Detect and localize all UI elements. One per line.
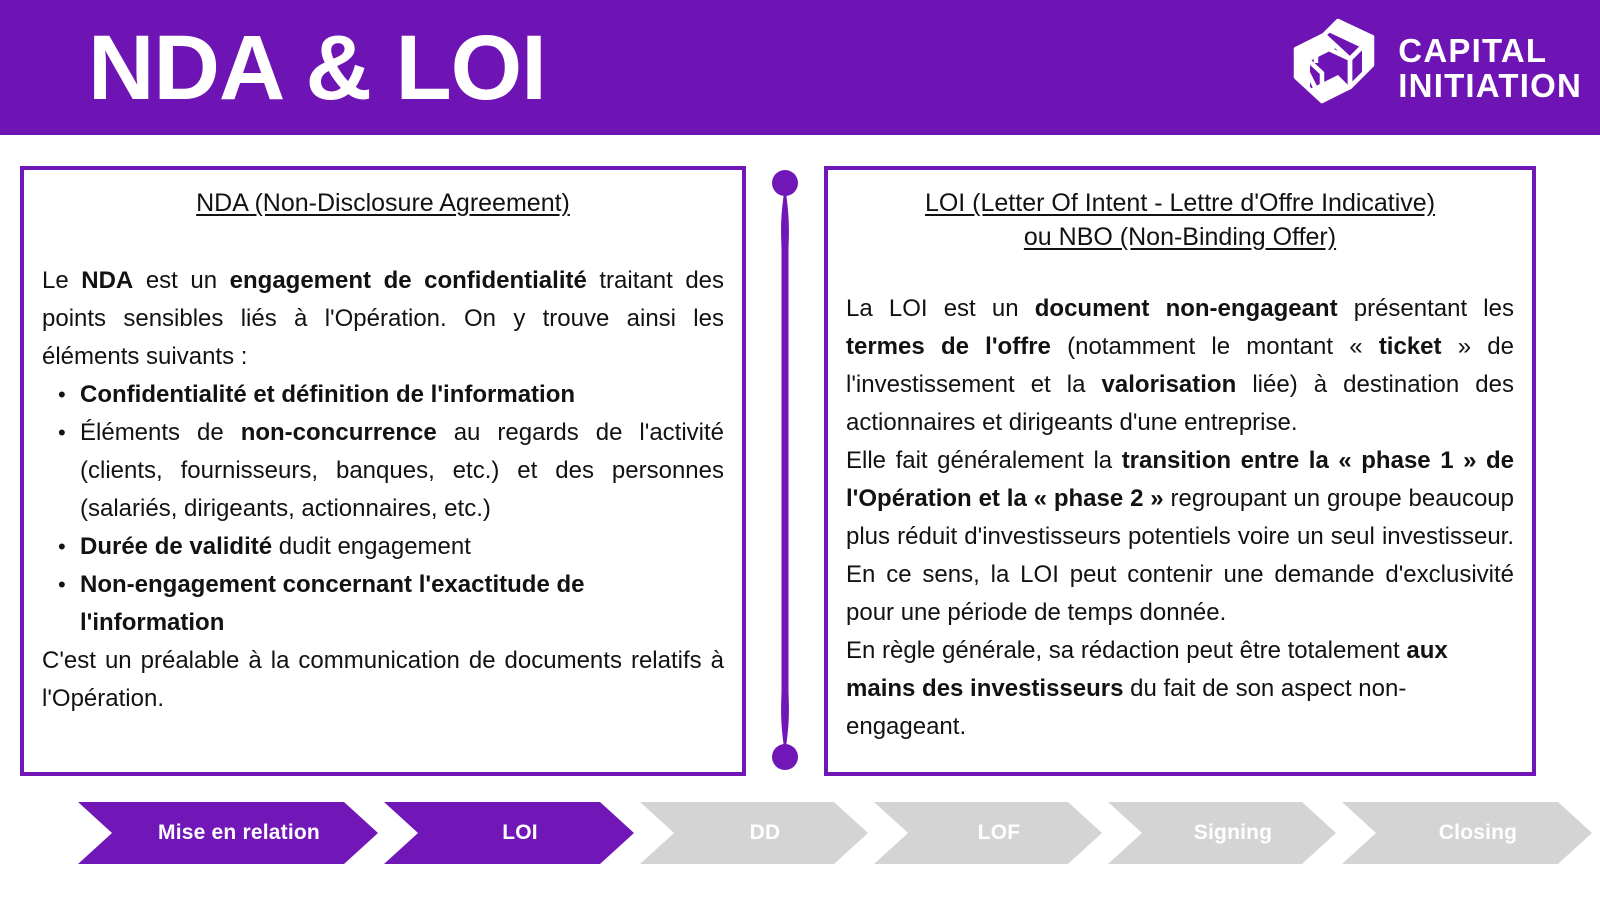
nda-panel-content: NDA (Non-Disclosure Agreement) Le NDA es… [24,170,742,718]
process-step-5[interactable]: Closing [1342,802,1592,864]
loi-heading: LOI (Letter Of Intent - Lettre d'Offre I… [846,186,1514,254]
process-step-0[interactable]: Mise en relation [78,802,378,864]
page-title: NDA & LOI [88,8,546,128]
process-step-label: LOF [874,821,1102,845]
list-item: Confidentialité et définition de l'infor… [80,376,724,414]
nda-body: Le NDA est un engagement de confidential… [42,262,724,718]
process-step-4[interactable]: Signing [1108,802,1336,864]
process-step-label: DD [640,821,868,845]
list-item: Durée de validité dudit engagement [80,528,724,566]
loi-paragraph: La LOI est un document non-engageant pré… [846,290,1514,442]
brand-line-2: INITIATION [1398,68,1582,103]
loi-panel-content: LOI (Letter Of Intent - Lettre d'Offre I… [828,170,1532,746]
brand-line-1: CAPITAL [1398,33,1582,68]
nda-panel: NDA (Non-Disclosure Agreement) Le NDA es… [20,166,746,776]
nda-intro-paragraph: Le NDA est un engagement de confidential… [42,262,724,376]
process-step-label: Mise en relation [78,821,378,845]
isometric-cube-logo-icon [1276,15,1384,119]
nda-heading-text: NDA (Non-Disclosure Agreement) [196,189,570,217]
panel-connector [770,168,800,772]
loi-paragraph: En règle générale, sa rédaction peut êtr… [846,632,1514,746]
process-step-label: Closing [1342,821,1592,845]
slide-root: NDA & LOI [0,0,1600,900]
process-timeline: Mise en relation LOI DD LOF Signing Clos… [78,802,1522,864]
brand-wordmark: CAPITAL INITIATION [1398,31,1582,103]
connector-dot-bottom [772,744,798,770]
list-item: Éléments de non-concurrence au regards d… [80,414,724,528]
header-bar: NDA & LOI [0,0,1600,135]
nda-heading: NDA (Non-Disclosure Agreement) [42,186,724,220]
process-step-label: LOI [384,821,634,845]
loi-paragraph: Elle fait généralement la transition ent… [846,442,1514,632]
loi-heading-line-2: ou NBO (Non-Binding Offer) [1024,223,1336,251]
connector-dot-top [772,170,798,196]
loi-panel: LOI (Letter Of Intent - Lettre d'Offre I… [824,166,1536,776]
nda-outro-paragraph: C'est un préalable à la communication de… [42,642,724,718]
vertical-line-with-dots-icon [770,168,800,772]
process-step-1[interactable]: LOI [384,802,634,864]
nda-bullet-list: Confidentialité et définition de l'infor… [42,376,724,642]
process-step-2[interactable]: DD [640,802,868,864]
loi-body: La LOI est un document non-engageant pré… [846,290,1514,746]
process-step-label: Signing [1108,821,1336,845]
list-item: Non-engagement concernant l'exactitude d… [80,566,724,642]
process-step-3[interactable]: LOF [874,802,1102,864]
loi-heading-line-1: LOI (Letter Of Intent - Lettre d'Offre I… [925,189,1435,217]
brand-logo: CAPITAL INITIATION [1276,14,1582,119]
